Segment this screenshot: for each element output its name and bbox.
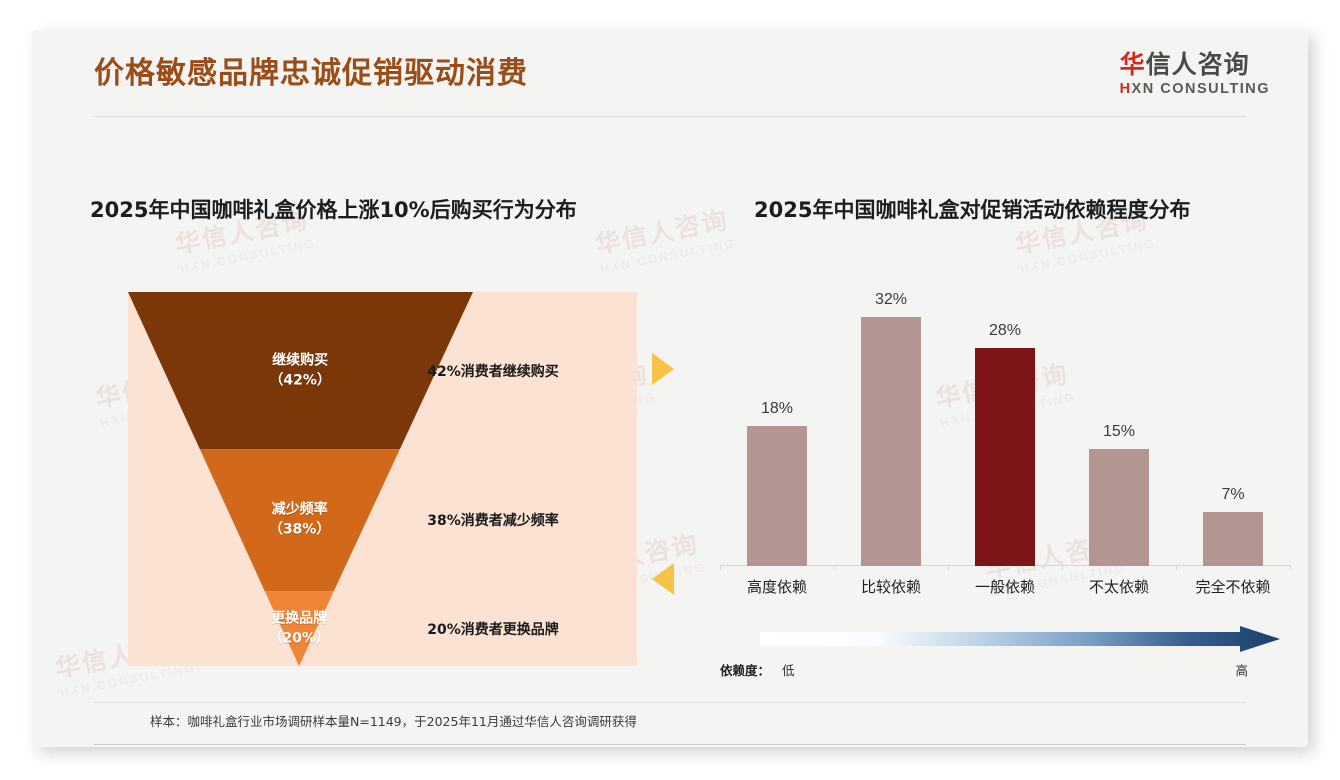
funnel-segment-label: 减少频率（38%）	[269, 500, 331, 541]
bar[interactable]	[1089, 449, 1149, 566]
logo-en-rest: XN CONSULTING	[1132, 81, 1270, 97]
watermark-cn: 华信人咨询	[592, 200, 734, 262]
bar-plot-area: 18%高度依赖32%比较依赖28%一般依赖15%不太依赖7%完全不依赖	[720, 286, 1290, 566]
gradient-arrow-icon	[720, 626, 1290, 656]
bar-column[interactable]: 28%一般依赖	[948, 286, 1062, 566]
source-note: 样本：咖啡礼盒行业市场调研样本量N=1149，于2025年11月通过华信人咨询调…	[150, 711, 637, 730]
bar-value-label: 15%	[1103, 423, 1135, 441]
slide-header: 价格敏感品牌忠诚促销驱动消费	[32, 30, 1308, 122]
funnel-stage-description: 20%消费者更换品牌	[363, 619, 623, 639]
play-right-icon	[652, 353, 674, 385]
funnel-stage-description: 42%消费者继续购买	[363, 361, 623, 381]
bar-category-label: 完全不依赖	[1195, 576, 1270, 597]
bar[interactable]	[747, 426, 807, 566]
logo-en-red-char: H	[1120, 81, 1132, 97]
bar-value-label: 18%	[761, 400, 793, 418]
page-title: 价格敏感品牌忠诚促销驱动消费	[94, 48, 528, 92]
bar-category-label: 比较依赖	[861, 576, 921, 597]
watermark-en: HXN CONSULTING	[59, 660, 197, 700]
dependency-bar-chart: 18%高度依赖32%比较依赖28%一般依赖15%不太依赖7%完全不依赖	[720, 286, 1290, 606]
funnel-stage-description: 38%消费者减少频率	[363, 510, 623, 530]
bar[interactable]	[1203, 512, 1263, 566]
watermark-en: HXN CONSULTING	[179, 236, 317, 276]
funnel-segment-value: （42%）	[269, 371, 331, 391]
funnel-segment-name: 继续购买	[269, 350, 331, 370]
watermark-en: HXN CONSULTING	[1019, 236, 1157, 276]
right-chart-title: 2025年中国咖啡礼盒对促销活动依赖程度分布	[754, 194, 1190, 224]
logo-chinese-text: 华信人咨询	[1120, 52, 1270, 78]
play-left-icon	[652, 563, 674, 595]
funnel-segment-value: （38%）	[269, 520, 331, 540]
logo-cn-red-char: 华	[1120, 50, 1146, 79]
bar-value-label: 7%	[1221, 486, 1244, 504]
bar-value-label: 28%	[989, 322, 1021, 340]
source-divider	[94, 702, 1246, 703]
funnel-segment-label: 更换品牌（20%）	[268, 608, 330, 649]
bar[interactable]	[861, 317, 921, 566]
watermark-en: HXN CONSULTING	[599, 236, 737, 276]
bar-category-label: 高度依赖	[747, 576, 807, 597]
logo-cn-rest: 信人咨询	[1146, 50, 1250, 79]
bar-column[interactable]: 32%比较依赖	[834, 286, 948, 566]
funnel-stage-rows: 继续购买（42%）42%消费者继续购买减少频率（38%）38%消费者减少频率更换…	[128, 292, 637, 666]
header-divider	[94, 116, 1246, 117]
funnel-chart: 继续购买（42%）42%消费者继续购买减少频率（38%）38%消费者减少频率更换…	[128, 292, 637, 666]
legend-title: 依赖度：	[720, 660, 770, 679]
x-axis-tick	[1290, 565, 1291, 570]
logo-english-text: HXN CONSULTING	[1120, 81, 1270, 97]
slide-canvas: 华信人咨询HXN CONSULTING 华信人咨询HXN CONSULTING …	[32, 30, 1308, 747]
footer-divider	[94, 744, 1246, 745]
dependency-gradient-legend: 依赖度： 低 高	[720, 626, 1290, 688]
bar-category-label: 不太依赖	[1089, 576, 1149, 597]
funnel-segment-label: 继续购买（42%）	[269, 350, 331, 391]
bar-column[interactable]: 18%高度依赖	[720, 286, 834, 566]
funnel-segment-name: 减少频率	[269, 500, 331, 520]
funnel-segment-name: 更换品牌	[268, 608, 330, 628]
bar-column[interactable]: 15%不太依赖	[1062, 286, 1176, 566]
funnel-segment-value: （20%）	[268, 629, 330, 649]
legend-low-label: 低	[782, 660, 795, 679]
bar-column[interactable]: 7%完全不依赖	[1176, 286, 1290, 566]
bar-value-label: 32%	[875, 291, 907, 309]
left-chart-title: 2025年中国咖啡礼盒价格上涨10%后购买行为分布	[90, 194, 577, 224]
bar[interactable]	[975, 348, 1035, 566]
bar-category-label: 一般依赖	[975, 576, 1035, 597]
company-logo: 华信人咨询 HXN CONSULTING	[1120, 52, 1270, 97]
legend-high-label: 高	[1235, 660, 1248, 679]
